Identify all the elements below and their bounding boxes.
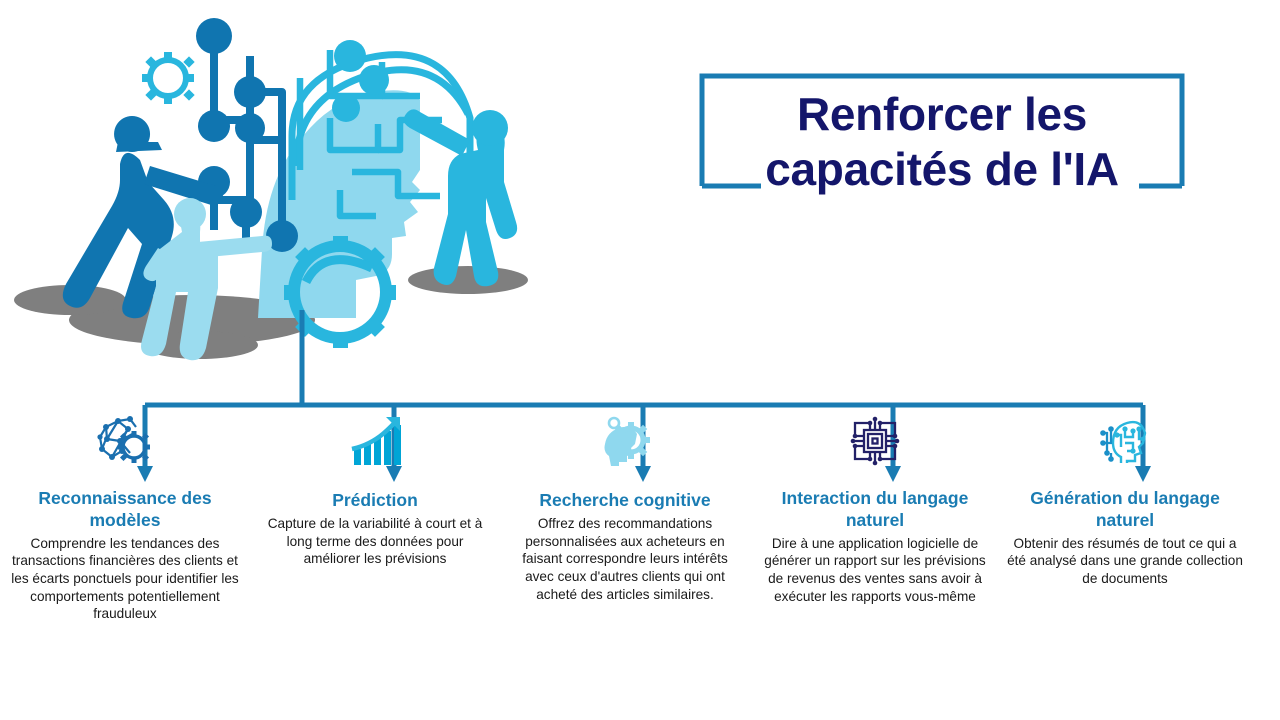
capability-body: Comprendre les tendances des transaction…: [11, 535, 239, 623]
head-node-3: [332, 94, 360, 122]
head-node-1: [334, 40, 366, 72]
capability-column-nl-interaction: Interaction du langage naturel Dire à un…: [750, 408, 1000, 698]
growth-bar-chart-icon: [346, 408, 404, 474]
capability-body: Obtenir des résumés de tout ce qui a été…: [1006, 535, 1244, 588]
page-title: Renforcer les capacités de l'IA: [699, 87, 1185, 197]
ai-head-circuit-icon: [1097, 408, 1153, 474]
capability-heading: Recherche cognitive: [508, 490, 742, 512]
pattern-network-gear-icon: [96, 408, 154, 474]
capability-column-nl-generation: Génération du langage naturel Obtenir de…: [1000, 408, 1250, 698]
title-line-1: Renforcer les: [699, 87, 1185, 142]
capability-column-pattern-recognition: Reconnaissance des modèles Comprendre le…: [0, 408, 250, 698]
capability-body: Capture de la variabilité à court et à l…: [258, 515, 492, 568]
capability-body: Dire à une application logicielle de gén…: [755, 535, 995, 606]
title-line-2: capacités de l'IA: [699, 142, 1185, 197]
microchip-circuit-icon: [847, 408, 903, 474]
capability-heading: Prédiction: [258, 490, 492, 512]
capability-body: Offrez des recommandations personnalisée…: [507, 515, 743, 603]
small-gear-outline: [142, 52, 195, 104]
capability-heading: Interaction du langage naturel: [758, 488, 992, 532]
capability-heading: Génération du langage naturel: [1008, 488, 1242, 532]
gear-sub-icon: [118, 431, 150, 463]
title-block: Renforcer les capacités de l'IA: [699, 73, 1185, 189]
capability-column-cognitive-search: Recherche cognitive Offrez des recommand…: [500, 408, 750, 698]
capability-column-prediction: Prédiction Capture de la variabilité à c…: [250, 408, 500, 698]
head-gear-cognitive-icon: [597, 408, 653, 474]
head-node-2: [359, 65, 389, 95]
capabilities-columns: Reconnaissance des modèles Comprendre le…: [0, 408, 1280, 698]
capability-heading: Reconnaissance des modèles: [8, 488, 242, 532]
